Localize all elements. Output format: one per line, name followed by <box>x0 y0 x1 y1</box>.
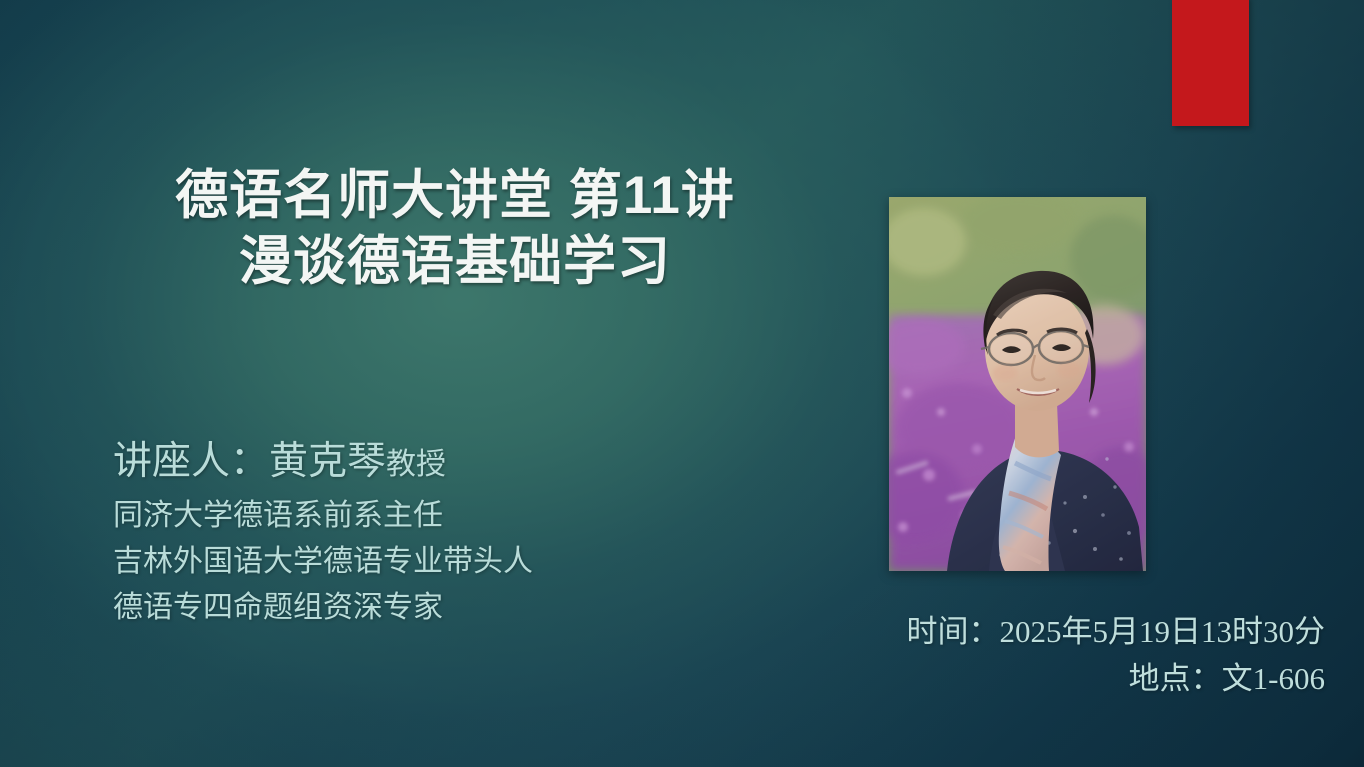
red-accent-bar <box>1172 0 1249 126</box>
event-location: 地点：文1-606 <box>907 655 1326 702</box>
speaker-credential-1: 同济大学德语系前系主任 <box>113 493 753 539</box>
title-line-2: 漫谈德语基础学习 <box>95 229 815 295</box>
speaker-credential-3: 德语专四命题组资深专家 <box>113 585 753 631</box>
speaker-rank: 教授 <box>386 448 446 481</box>
speaker-credential-2: 吉林外国语大学德语专业带头人 <box>113 539 753 585</box>
speaker-label: 讲座人： <box>113 440 269 483</box>
slide-title: 德语名师大讲堂 第11讲 漫谈德语基础学习 <box>95 163 815 295</box>
title-line-1: 德语名师大讲堂 第11讲 <box>95 163 815 229</box>
speaker-photo <box>889 197 1146 571</box>
speaker-info: 讲座人：黄克琴教授 同济大学德语系前系主任 吉林外国语大学德语专业带头人 德语专… <box>113 437 753 631</box>
speaker-portrait-illustration <box>889 197 1146 571</box>
presentation-slide: 德语名师大讲堂 第11讲 漫谈德语基础学习 讲座人：黄克琴教授 同济大学德语系前… <box>0 0 1364 767</box>
event-details: 时间：2025年5月19日13时30分 地点：文1-606 <box>907 608 1326 702</box>
event-time: 时间：2025年5月19日13时30分 <box>907 608 1326 655</box>
speaker-headline: 讲座人：黄克琴教授 <box>113 437 753 489</box>
speaker-name: 黄克琴 <box>269 440 386 483</box>
